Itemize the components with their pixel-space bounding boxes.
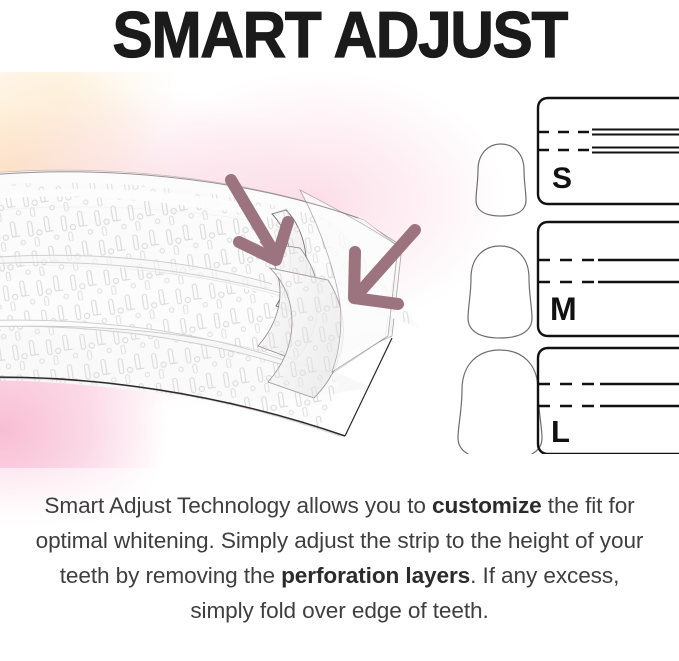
caption-bold-perforation-layers: perforation layers — [281, 563, 470, 588]
page-title: SMART ADJUST — [112, 3, 567, 68]
strip-card-medium: M — [538, 222, 679, 336]
perforation-line-s-2 — [538, 148, 679, 153]
size-row-medium: M — [468, 222, 679, 338]
perforation-line-s-1 — [538, 130, 679, 135]
caption-bold-customize: customize — [432, 493, 542, 518]
size-row-small: S — [476, 98, 679, 216]
tooth-outline-small — [476, 144, 526, 216]
tooth-outline-large — [458, 350, 542, 454]
strip-size-guide: S M — [450, 88, 679, 454]
size-row-large: L — [458, 348, 679, 454]
caption-paragraph: Smart Adjust Technology allows you to cu… — [34, 488, 645, 628]
tooth-outline-medium — [468, 246, 532, 338]
strip-card-large: L — [538, 348, 679, 454]
size-label-small: S — [552, 162, 572, 195]
size-label-large: L — [551, 414, 570, 449]
size-label-medium: M — [550, 291, 577, 327]
caption-text-1: Smart Adjust Technology allows you to — [44, 493, 432, 518]
title-container: SMART ADJUST — [0, 0, 679, 70]
strip-card-small: S — [538, 98, 679, 204]
